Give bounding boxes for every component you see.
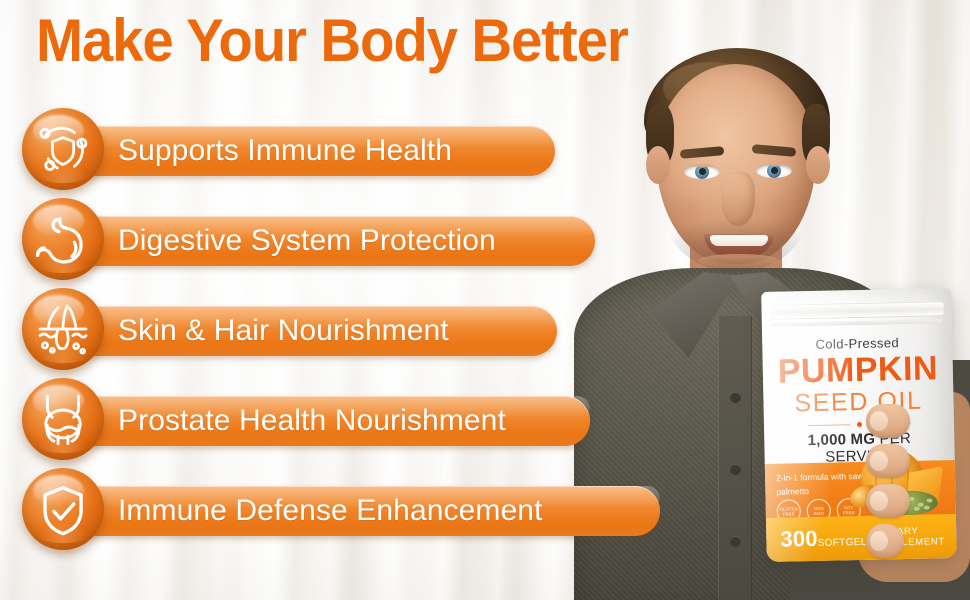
benefit-label: Prostate Health Nourishment	[62, 404, 532, 438]
page-title: Make Your Body Better	[36, 11, 628, 71]
nose	[721, 172, 755, 226]
benefit-item-skin-hair[interactable]: Skin & Hair Nourishment	[0, 288, 720, 378]
finger-ring	[866, 484, 910, 518]
benefit-label: Immune Defense Enhancement	[62, 494, 569, 528]
benefit-pill[interactable]: Immune Defense Enhancement	[62, 486, 660, 536]
finger-pinky	[866, 524, 904, 558]
benefit-pill[interactable]: Supports Immune Health	[62, 126, 555, 176]
pouch-gloss	[761, 290, 854, 562]
finger-middle	[866, 444, 910, 478]
hair-follicle-icon	[22, 288, 104, 370]
benefit-item-prostate-health[interactable]: Prostate Health Nourishment	[0, 378, 720, 468]
ear-right	[806, 146, 830, 184]
shirt-button	[730, 464, 741, 475]
eyelid-right	[756, 163, 792, 166]
benefit-pill[interactable]: Skin & Hair Nourishment	[62, 306, 557, 356]
eye-right	[756, 163, 792, 178]
benefit-label: Supports Immune Health	[62, 134, 478, 168]
benefit-label: Digestive System Protection	[62, 224, 522, 258]
benefits-list: Supports Immune Health Digestive System …	[0, 108, 720, 558]
product-advertisement-banner: Cold-Pressed PUMPKIN SEED OIL 1,000 MG P…	[0, 0, 970, 600]
shirt-placket	[718, 316, 752, 600]
benefit-label: Skin & Hair Nourishment	[62, 314, 475, 348]
shield-network-icon	[22, 108, 104, 190]
shirt-button	[730, 392, 741, 403]
product-pouch: Cold-Pressed PUMPKIN SEED OIL 1,000 MG P…	[761, 288, 957, 562]
shirt-button	[730, 536, 741, 547]
finger-index	[866, 404, 910, 438]
benefit-pill[interactable]: Digestive System Protection	[62, 216, 595, 266]
benefit-item-digestive-protection[interactable]: Digestive System Protection	[0, 198, 720, 288]
shield-check-icon	[22, 468, 104, 550]
benefit-item-immune-defense[interactable]: Immune Defense Enhancement	[0, 468, 720, 558]
benefit-pill[interactable]: Prostate Health Nourishment	[62, 396, 590, 446]
bladder-icon	[22, 378, 104, 460]
stomach-icon	[22, 198, 104, 280]
benefit-item-immune-health[interactable]: Supports Immune Health	[0, 108, 720, 198]
divider-dot	[856, 422, 861, 427]
pupil-right	[771, 167, 778, 174]
cheek-right	[762, 196, 804, 224]
